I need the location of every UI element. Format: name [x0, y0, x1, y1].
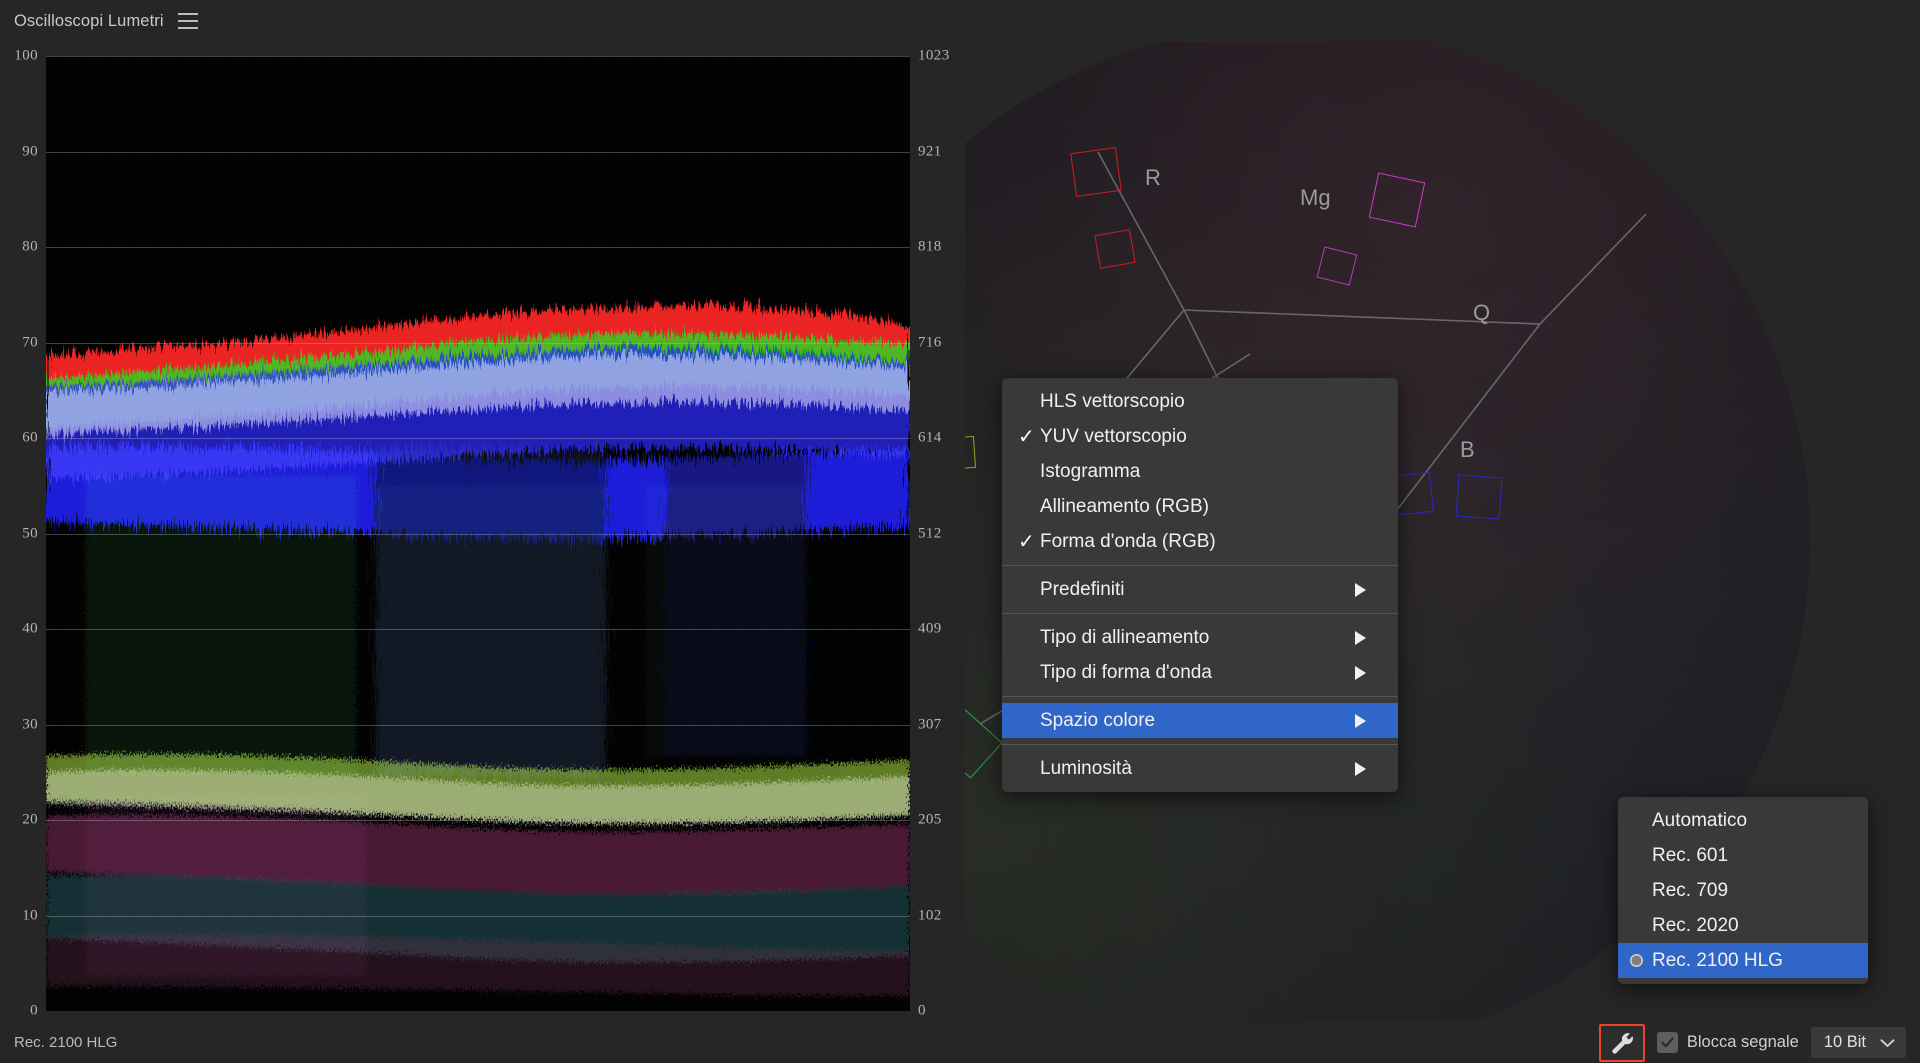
waveform-tick-right: 512	[918, 525, 942, 542]
waveform-tick-left: 20	[22, 812, 38, 829]
submenu-item-label: Rec. 2020	[1652, 915, 1739, 937]
waveform-gridline	[46, 629, 910, 630]
menu-item-allineamento-rgb[interactable]: Allineamento (RGB)	[1002, 489, 1398, 524]
status-bar-controls: Blocca segnale 10 Bit	[1599, 1022, 1906, 1063]
submenu-arrow-icon	[1355, 631, 1384, 645]
waveform-tick-left: 90	[22, 143, 38, 160]
submenu-item-label: Automatico	[1652, 810, 1747, 832]
waveform-left-axis: 1009080706050403020100	[0, 56, 38, 1011]
menu-item-label: Tipo di forma d'onda	[1040, 662, 1347, 684]
waveform-gridline	[46, 438, 910, 439]
waveform-tick-right: 614	[918, 430, 942, 447]
submenu-arrow-icon	[1355, 583, 1384, 597]
waveform-gridline	[46, 343, 910, 344]
menu-item-tipo-di-forma-d-onda[interactable]: Tipo di forma d'onda	[1002, 655, 1398, 690]
waveform-tick-left: 50	[22, 525, 38, 542]
menu-item-istogramma[interactable]: Istogramma	[1002, 454, 1398, 489]
vectorscope-label-r: R	[1145, 165, 1161, 191]
waveform-tick-left: 10	[22, 907, 38, 924]
menu-item-label: Spazio colore	[1040, 710, 1347, 732]
submenu-arrow-icon	[1355, 714, 1384, 728]
waveform-tick-right: 409	[918, 621, 942, 638]
bit-depth-value: 10 Bit	[1824, 1033, 1866, 1052]
menu-item-label: Tipo di allineamento	[1040, 627, 1347, 649]
scopes-stage: 1009080706050403020100	[0, 42, 1920, 1022]
menu-item-hls-vettorscopio[interactable]: HLS vettorscopio	[1002, 384, 1398, 419]
submenu-item-rec-2020[interactable]: Rec. 2020	[1618, 908, 1868, 943]
radio-indicator-icon	[1630, 954, 1652, 967]
menu-separator	[1002, 696, 1398, 697]
vectorscope-target-box	[1456, 475, 1503, 520]
menu-item-predefiniti[interactable]: Predefiniti	[1002, 572, 1398, 607]
waveform-tick-left: 40	[22, 621, 38, 638]
menu-item-forma-d-onda-rgb[interactable]: ✓Forma d'onda (RGB)	[1002, 524, 1398, 559]
waveform-gridline	[46, 820, 910, 821]
vectorscope-target-box	[1094, 229, 1135, 269]
waveform-gridline	[46, 916, 910, 917]
color-space-submenu[interactable]: AutomaticoRec. 601Rec. 709Rec. 2020Rec. …	[1618, 797, 1868, 984]
lock-signal-label: Blocca segnale	[1687, 1033, 1799, 1052]
page-title: Oscilloscopi Lumetri	[14, 12, 164, 31]
vectorscope-target-box	[1070, 147, 1122, 197]
submenu-item-label: Rec. 709	[1652, 880, 1728, 902]
checkmark-icon: ✓	[1018, 532, 1040, 552]
menu-item-label: Istogramma	[1040, 461, 1384, 483]
waveform-gridline	[46, 152, 910, 153]
menu-item-label: YUV vettorscopio	[1040, 426, 1384, 448]
menu-item-label: HLS vettorscopio	[1040, 391, 1384, 413]
submenu-item-label: Rec. 2100 HLG	[1652, 950, 1783, 972]
waveform-tick-left: 30	[22, 716, 38, 733]
waveform-gridline	[46, 725, 910, 726]
waveform-plot[interactable]	[46, 56, 910, 1011]
status-bar: Rec. 2100 HLG Blocca segnale 10 Bit	[0, 1022, 1920, 1063]
waveform-tick-right: 818	[918, 239, 942, 256]
submenu-item-automatico[interactable]: Automatico	[1618, 803, 1868, 838]
checkmark-icon	[1660, 1035, 1675, 1050]
menu-separator	[1002, 613, 1398, 614]
waveform-tick-left: 80	[22, 239, 38, 256]
waveform-tick-right: 1023	[918, 48, 950, 65]
menu-item-label: Allineamento (RGB)	[1040, 496, 1384, 518]
vectorscope-target-box	[1369, 173, 1426, 228]
panel-header: Oscilloscopi Lumetri	[0, 0, 1920, 42]
waveform-tick-right: 716	[918, 334, 942, 351]
menu-separator	[1002, 744, 1398, 745]
vectorscope-label-q: Q	[1473, 300, 1490, 326]
menu-item-yuv-vettorscopio[interactable]: ✓YUV vettorscopio	[1002, 419, 1398, 454]
waveform-tick-left: 0	[30, 1003, 38, 1020]
waveform-scope[interactable]: 1009080706050403020100	[0, 42, 965, 1022]
hamburger-icon[interactable]	[178, 13, 198, 29]
vectorscope-label-mg: Mg	[1300, 185, 1331, 211]
submenu-item-label: Rec. 601	[1652, 845, 1728, 867]
waveform-tick-right: 921	[918, 143, 942, 160]
lock-signal-checkbox[interactable]	[1657, 1032, 1678, 1053]
waveform-tick-right: 205	[918, 812, 942, 829]
waveform-gridline	[46, 56, 910, 57]
wrench-icon	[1609, 1030, 1635, 1056]
menu-item-label: Forma d'onda (RGB)	[1040, 531, 1384, 553]
menu-item-luminosit[interactable]: Luminosità	[1002, 751, 1398, 786]
scope-context-menu[interactable]: HLS vettorscopio✓YUV vettorscopioIstogra…	[1002, 378, 1398, 792]
color-space-status: Rec. 2100 HLG	[14, 1034, 117, 1051]
waveform-tick-left: 60	[22, 430, 38, 447]
menu-item-label: Luminosità	[1040, 758, 1347, 780]
submenu-arrow-icon	[1355, 762, 1384, 776]
waveform-tick-right: 102	[918, 907, 942, 924]
menu-item-label: Predefiniti	[1040, 579, 1347, 601]
submenu-arrow-icon	[1355, 666, 1384, 680]
menu-item-spazio-colore[interactable]: Spazio colore	[1002, 703, 1398, 738]
waveform-tick-left: 100	[14, 48, 38, 65]
waveform-tick-left: 70	[22, 334, 38, 351]
settings-wrench-button[interactable]	[1599, 1024, 1645, 1062]
waveform-tick-right: 0	[918, 1003, 926, 1020]
bit-depth-select[interactable]: 10 Bit	[1811, 1027, 1906, 1058]
submenu-item-rec-601[interactable]: Rec. 601	[1618, 838, 1868, 873]
lock-signal-control[interactable]: Blocca segnale	[1657, 1032, 1799, 1053]
submenu-item-rec-2100-hlg[interactable]: Rec. 2100 HLG	[1618, 943, 1868, 978]
menu-item-tipo-di-allineamento[interactable]: Tipo di allineamento	[1002, 620, 1398, 655]
menu-separator	[1002, 565, 1398, 566]
chevron-down-icon	[1880, 1038, 1895, 1048]
vectorscope-label-b: B	[1460, 437, 1475, 463]
submenu-item-rec-709[interactable]: Rec. 709	[1618, 873, 1868, 908]
waveform-tick-right: 307	[918, 716, 942, 733]
waveform-gridline	[46, 247, 910, 248]
checkmark-icon: ✓	[1018, 427, 1040, 447]
waveform-gridline	[46, 534, 910, 535]
